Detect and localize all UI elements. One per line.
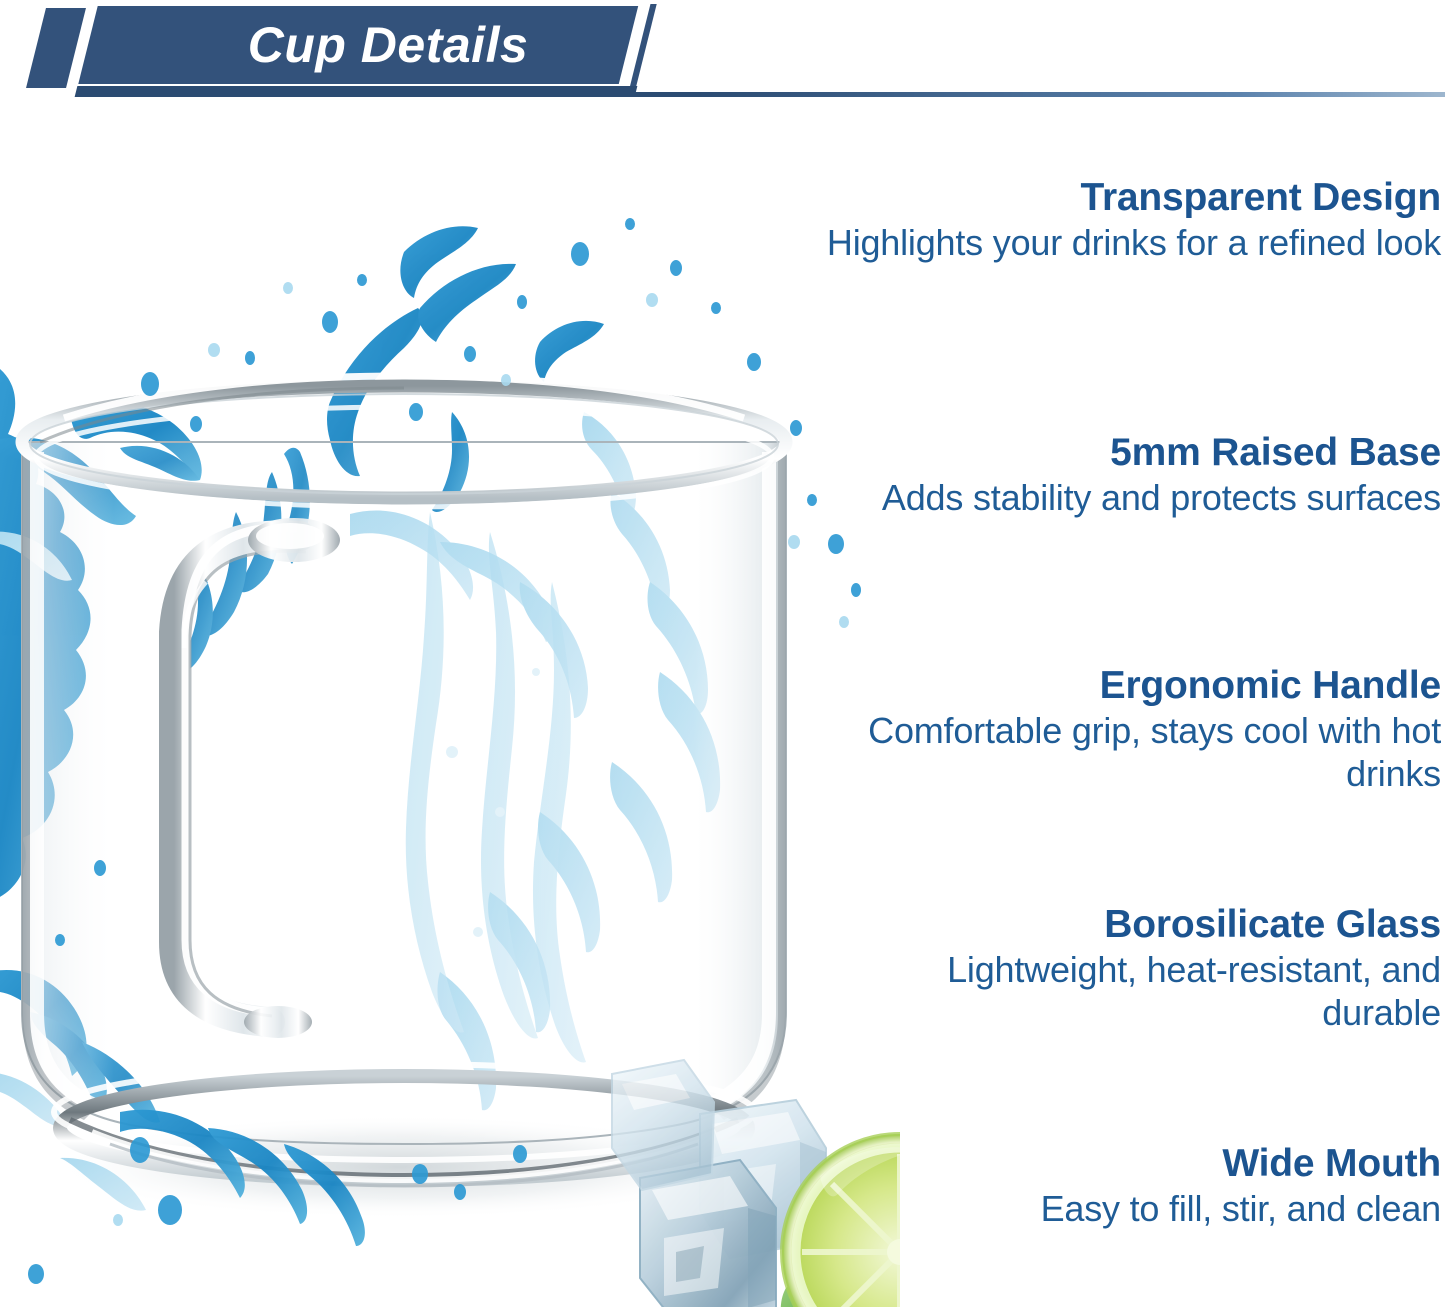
feature-item-borosilicate-glass: Borosilicate Glass Lightweight, heat-res… — [821, 903, 1441, 1034]
feature-description: Highlights your drinks for a refined loo… — [821, 222, 1441, 264]
feature-description: Easy to fill, stir, and clean — [821, 1188, 1441, 1230]
product-photo — [0, 112, 900, 1307]
page-title: Cup Details — [128, 6, 648, 84]
feature-title: Transparent Design — [821, 176, 1441, 220]
cup-body — [22, 442, 786, 1144]
banner-rule — [84, 92, 1445, 97]
feature-description: Comfortable grip, stays cool with hot dr… — [821, 710, 1441, 794]
feature-title: Ergonomic Handle — [821, 664, 1441, 708]
feature-description: Adds stability and protects surfaces — [821, 477, 1441, 519]
feature-title: Wide Mouth — [821, 1142, 1441, 1186]
product-illustration — [0, 112, 900, 1307]
ice-cube-top — [612, 1060, 714, 1190]
feature-title: 5mm Raised Base — [821, 431, 1441, 475]
feature-item-wide-mouth: Wide Mouth Easy to fill, stir, and clean — [821, 1142, 1441, 1231]
feature-item-ergonomic-handle: Ergonomic Handle Comfortable grip, stays… — [821, 664, 1441, 795]
feature-item-transparent-design: Transparent Design Highlights your drink… — [821, 176, 1441, 265]
banner-accent-shape — [26, 8, 86, 88]
feature-description: Lightweight, heat-resistant, and durable — [821, 949, 1441, 1033]
feature-title: Borosilicate Glass — [821, 903, 1441, 947]
feature-item-raised-base: 5mm Raised Base Adds stability and prote… — [821, 431, 1441, 520]
header-banner: Cup Details — [0, 0, 1445, 112]
